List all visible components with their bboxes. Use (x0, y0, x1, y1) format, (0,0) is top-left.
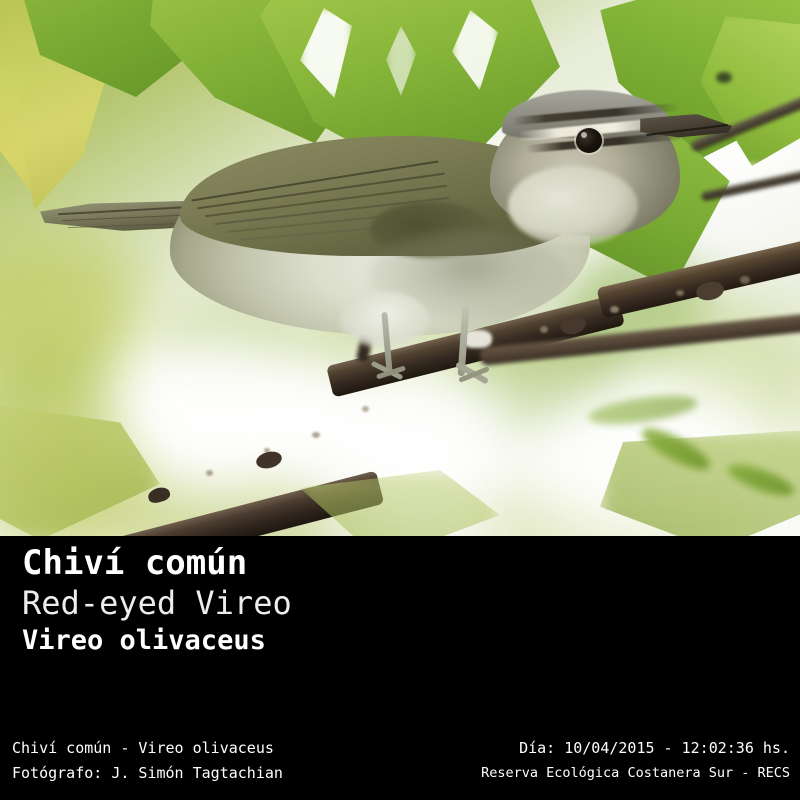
branch-texture (206, 470, 213, 476)
english-name: Red-eyed Vireo (22, 583, 292, 623)
credit-location-line: Reserva Ecológica Costanera Sur - RECS (481, 761, 790, 786)
bird-red-eyed-vireo (40, 80, 720, 410)
common-name: Chiví común (22, 543, 292, 583)
credits-bar: Chiví común - Vireo olivaceus Fotógrafo:… (0, 736, 800, 792)
bird-eye (576, 128, 602, 153)
credits-left: Chiví común - Vireo olivaceus Fotógrafo:… (12, 736, 283, 786)
credit-photographer-line: Fotógrafo: J. Simón Tagtachian (12, 761, 283, 786)
scientific-name: Vireo olivaceus (22, 623, 292, 659)
caption-bar: Chiví común Red-eyed Vireo Vireo olivace… (0, 536, 800, 800)
bird-photo-card: Chiví común Red-eyed Vireo Vireo olivace… (0, 0, 800, 800)
bird-eye-catchlight (581, 132, 587, 138)
species-title-block: Chiví común Red-eyed Vireo Vireo olivace… (22, 543, 292, 659)
bird-throat (508, 166, 638, 246)
credit-date-line: Día: 10/04/2015 - 12:02:36 hs. (481, 736, 790, 761)
branch-texture (312, 432, 320, 438)
credits-right: Día: 10/04/2015 - 12:02:36 hs. Reserva E… (481, 736, 790, 786)
credit-species-line: Chiví común - Vireo olivaceus (12, 736, 283, 761)
photograph (0, 0, 800, 536)
branch-texture (740, 276, 750, 284)
